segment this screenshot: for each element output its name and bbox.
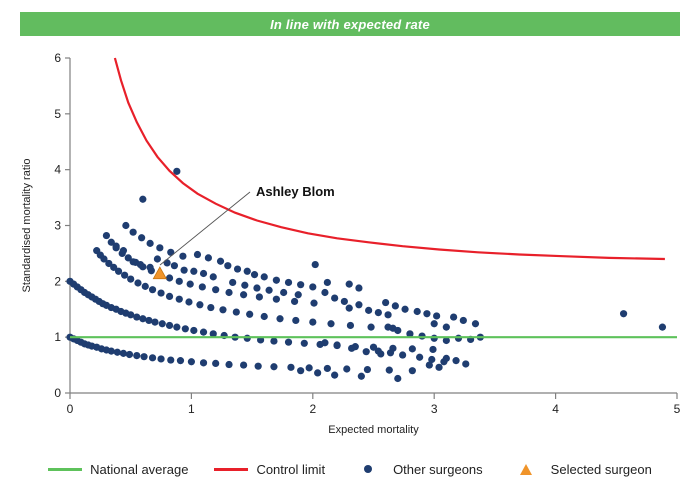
data-point-other-surgeon: [394, 375, 401, 382]
data-point-other-surgeon: [138, 234, 145, 241]
data-point-other-surgeon: [285, 279, 292, 286]
legend-label: Control limit: [256, 462, 325, 477]
data-point-other-surgeon: [241, 282, 248, 289]
y-tick-label: 2: [54, 274, 61, 288]
data-point-other-surgeon: [287, 364, 294, 371]
data-point-other-surgeon: [149, 354, 156, 361]
data-point-other-surgeon: [387, 349, 394, 356]
data-point-other-surgeon: [166, 293, 173, 300]
data-point-other-surgeon: [115, 268, 122, 275]
data-point-other-surgeon: [196, 301, 203, 308]
x-tick-label: 2: [309, 402, 316, 416]
data-point-other-surgeon: [382, 299, 389, 306]
data-point-other-surgeon: [190, 327, 197, 334]
line-icon: [48, 468, 82, 471]
data-point-other-surgeon: [392, 302, 399, 309]
data-point-other-surgeon: [190, 268, 197, 275]
data-point-other-surgeon: [401, 306, 408, 313]
data-point-other-surgeon: [255, 363, 262, 370]
data-point-other-surgeon: [364, 366, 371, 373]
data-point-other-surgeon: [164, 259, 171, 266]
legend-item-control-limit[interactable]: Control limit: [214, 462, 325, 477]
data-point-other-surgeon: [310, 300, 317, 307]
x-tick-label: 4: [552, 402, 559, 416]
y-tick-label: 3: [54, 219, 61, 233]
data-point-other-surgeon: [139, 196, 146, 203]
data-point-other-surgeon: [127, 276, 134, 283]
data-point-selected-surgeon[interactable]: [153, 267, 166, 279]
data-point-other-surgeon: [285, 339, 292, 346]
data-point-other-surgeon: [224, 262, 231, 269]
data-point-other-surgeon: [145, 317, 152, 324]
data-point-other-surgeon: [251, 271, 258, 278]
legend-label: Selected surgeon: [551, 462, 652, 477]
data-point-other-surgeon: [133, 313, 140, 320]
data-point-other-surgeon: [219, 306, 226, 313]
data-point-other-surgeon: [130, 229, 137, 236]
data-point-other-surgeon: [120, 350, 127, 357]
data-point-other-surgeon: [297, 281, 304, 288]
data-point-other-surgeon: [443, 355, 450, 362]
data-point-other-surgeon: [176, 278, 183, 285]
data-point-other-surgeon: [377, 350, 384, 357]
data-point-other-surgeon: [212, 286, 219, 293]
annotation-label: Ashley Blom: [256, 184, 335, 199]
data-point-other-surgeon: [423, 310, 430, 317]
data-point-other-surgeon: [225, 361, 232, 368]
data-point-other-surgeon: [261, 273, 268, 280]
legend-item-national-average[interactable]: National average: [48, 462, 188, 477]
data-point-other-surgeon: [341, 298, 348, 305]
data-point-other-surgeon: [321, 339, 328, 346]
data-point-other-surgeon: [120, 247, 127, 254]
data-point-other-surgeon: [292, 317, 299, 324]
data-point-other-surgeon: [182, 325, 189, 332]
data-point-other-surgeon: [309, 318, 316, 325]
data-point-other-surgeon: [431, 320, 438, 327]
data-point-other-surgeon: [188, 358, 195, 365]
data-point-other-surgeon: [273, 277, 280, 284]
data-point-other-surgeon: [443, 324, 450, 331]
data-point-other-surgeon: [386, 367, 393, 374]
line-icon: [214, 468, 248, 471]
data-point-other-surgeon: [137, 261, 144, 268]
data-point-other-surgeon: [157, 355, 164, 362]
data-point-other-surgeon: [194, 251, 201, 258]
data-point-other-surgeon: [462, 360, 469, 367]
data-point-other-surgeon: [151, 318, 158, 325]
data-point-other-surgeon: [103, 232, 110, 239]
data-point-other-surgeon: [156, 244, 163, 251]
data-point-other-surgeon: [187, 281, 194, 288]
data-point-other-surgeon: [173, 324, 180, 331]
data-point-other-surgeon: [244, 335, 251, 342]
data-point-other-surgeon: [280, 289, 287, 296]
data-point-other-surgeon: [126, 351, 133, 358]
data-point-other-surgeon: [314, 369, 321, 376]
data-point-other-surgeon: [256, 293, 263, 300]
data-point-other-surgeon: [433, 312, 440, 319]
data-point-other-surgeon: [431, 335, 438, 342]
data-point-other-surgeon: [140, 353, 147, 360]
data-point-other-surgeon: [409, 367, 416, 374]
x-tick-label: 0: [67, 402, 74, 416]
legend-label: National average: [90, 462, 188, 477]
data-point-other-surgeon: [270, 363, 277, 370]
x-tick-label: 5: [674, 402, 681, 416]
triangle-icon: [520, 464, 532, 475]
data-point-other-surgeon: [240, 361, 247, 368]
data-point-other-surgeon: [154, 255, 161, 262]
data-point-other-surgeon: [418, 332, 425, 339]
data-point-other-surgeon: [460, 317, 467, 324]
data-point-other-surgeon: [212, 360, 219, 367]
y-tick-label: 4: [54, 163, 61, 177]
funnel-plot: 0123456012345Expected mortalityStandardi…: [0, 0, 700, 455]
data-point-other-surgeon: [347, 322, 354, 329]
data-point-other-surgeon: [217, 258, 224, 265]
data-point-other-surgeon: [384, 324, 391, 331]
data-point-other-surgeon: [416, 354, 423, 361]
data-point-other-surgeon: [331, 294, 338, 301]
x-tick-label: 1: [188, 402, 195, 416]
data-point-other-surgeon: [273, 296, 280, 303]
data-point-other-surgeon: [240, 291, 247, 298]
data-point-other-surgeon: [205, 254, 212, 261]
data-point-other-surgeon: [297, 367, 304, 374]
data-point-other-surgeon: [177, 357, 184, 364]
data-point-other-surgeon: [414, 308, 421, 315]
data-point-other-surgeon: [435, 364, 442, 371]
data-point-other-surgeon: [346, 305, 353, 312]
data-point-other-surgeon: [429, 346, 436, 353]
chart-legend: National average Control limit Other sur…: [20, 455, 680, 483]
y-tick-label: 0: [54, 386, 61, 400]
data-point-other-surgeon: [147, 240, 154, 247]
annotation-leader-line: [160, 192, 250, 265]
data-point-other-surgeon: [167, 249, 174, 256]
data-point-other-surgeon: [455, 335, 462, 342]
data-point-other-surgeon: [355, 284, 362, 291]
data-point-other-surgeon: [225, 289, 232, 296]
data-point-other-surgeon: [270, 337, 277, 344]
data-point-other-surgeon: [321, 289, 328, 296]
x-tick-label: 3: [431, 402, 438, 416]
y-axis-title: Standardised mortality ratio: [21, 159, 33, 293]
data-point-other-surgeon: [426, 361, 433, 368]
data-point-other-surgeon: [181, 267, 188, 274]
data-point-other-surgeon: [159, 320, 166, 327]
data-point-other-surgeon: [185, 298, 192, 305]
data-point-other-surgeon: [261, 313, 268, 320]
data-point-other-surgeon: [312, 261, 319, 268]
data-point-other-surgeon: [179, 253, 186, 260]
legend-item-other-surgeons[interactable]: Other surgeons: [351, 462, 483, 477]
data-point-other-surgeon: [450, 313, 457, 320]
data-point-other-surgeon: [133, 352, 140, 359]
data-point-other-surgeon: [142, 283, 149, 290]
data-point-other-surgeon: [291, 298, 298, 305]
data-point-other-surgeon: [331, 372, 338, 379]
data-point-other-surgeon: [394, 327, 401, 334]
data-point-other-surgeon: [176, 296, 183, 303]
data-point-other-surgeon: [147, 264, 154, 271]
data-point-other-surgeon: [472, 320, 479, 327]
data-point-other-surgeon: [149, 286, 156, 293]
data-point-other-surgeon: [409, 345, 416, 352]
data-point-other-surgeon: [306, 364, 313, 371]
data-point-other-surgeon: [157, 289, 164, 296]
data-point-other-surgeon: [113, 243, 120, 250]
data-point-other-surgeon: [229, 279, 236, 286]
data-point-other-surgeon: [171, 262, 178, 269]
data-point-other-surgeon: [233, 308, 240, 315]
data-point-other-surgeon: [166, 274, 173, 281]
y-tick-label: 5: [54, 107, 61, 121]
data-point-other-surgeon: [358, 373, 365, 380]
y-tick-label: 6: [54, 51, 61, 65]
legend-item-selected-surgeon[interactable]: Selected surgeon: [509, 462, 652, 477]
data-point-other-surgeon: [166, 322, 173, 329]
data-point-other-surgeon: [309, 283, 316, 290]
data-point-other-surgeon: [295, 291, 302, 298]
data-point-other-surgeon: [324, 365, 331, 372]
dot-icon: [364, 465, 372, 473]
legend-label: Other surgeons: [393, 462, 483, 477]
data-point-other-surgeon: [199, 283, 206, 290]
data-point-other-surgeon: [121, 272, 128, 279]
data-point-other-surgeon: [659, 324, 666, 331]
data-point-other-surgeon: [167, 356, 174, 363]
control-limit-curve: [115, 58, 665, 259]
data-point-other-surgeon: [234, 265, 241, 272]
data-point-other-surgeon: [134, 279, 141, 286]
data-point-other-surgeon: [200, 359, 207, 366]
data-point-other-surgeon: [210, 273, 217, 280]
data-point-other-surgeon: [122, 222, 129, 229]
data-point-other-surgeon: [327, 320, 334, 327]
data-point-other-surgeon: [253, 284, 260, 291]
data-point-other-surgeon: [365, 307, 372, 314]
data-point-other-surgeon: [348, 345, 355, 352]
data-point-other-surgeon: [343, 365, 350, 372]
data-point-other-surgeon: [363, 348, 370, 355]
data-point-other-surgeon: [384, 311, 391, 318]
data-point-other-surgeon: [399, 351, 406, 358]
data-point-other-surgeon: [207, 304, 214, 311]
data-point-other-surgeon: [265, 287, 272, 294]
data-point-other-surgeon: [246, 311, 253, 318]
data-point-other-surgeon: [452, 357, 459, 364]
data-point-other-surgeon: [367, 324, 374, 331]
data-point-other-surgeon: [114, 349, 121, 356]
data-point-other-surgeon: [346, 281, 353, 288]
chart-page: In line with expected rate 0123456012345…: [0, 0, 700, 500]
data-point-other-surgeon: [108, 348, 115, 355]
data-point-other-surgeon: [244, 268, 251, 275]
data-point-other-surgeon: [276, 315, 283, 322]
data-point-other-surgeon: [130, 258, 137, 265]
data-point-other-surgeon: [375, 309, 382, 316]
data-point-other-surgeon: [324, 279, 331, 286]
data-point-other-surgeon: [301, 340, 308, 347]
data-point-other-surgeon: [200, 329, 207, 336]
data-point-other-surgeon: [333, 341, 340, 348]
data-point-other-surgeon: [200, 270, 207, 277]
data-point-other-surgeon: [139, 315, 146, 322]
x-axis-title: Expected mortality: [328, 424, 419, 436]
data-point-other-surgeon: [355, 301, 362, 308]
y-tick-label: 1: [54, 330, 61, 344]
data-point-other-surgeon: [620, 310, 627, 317]
